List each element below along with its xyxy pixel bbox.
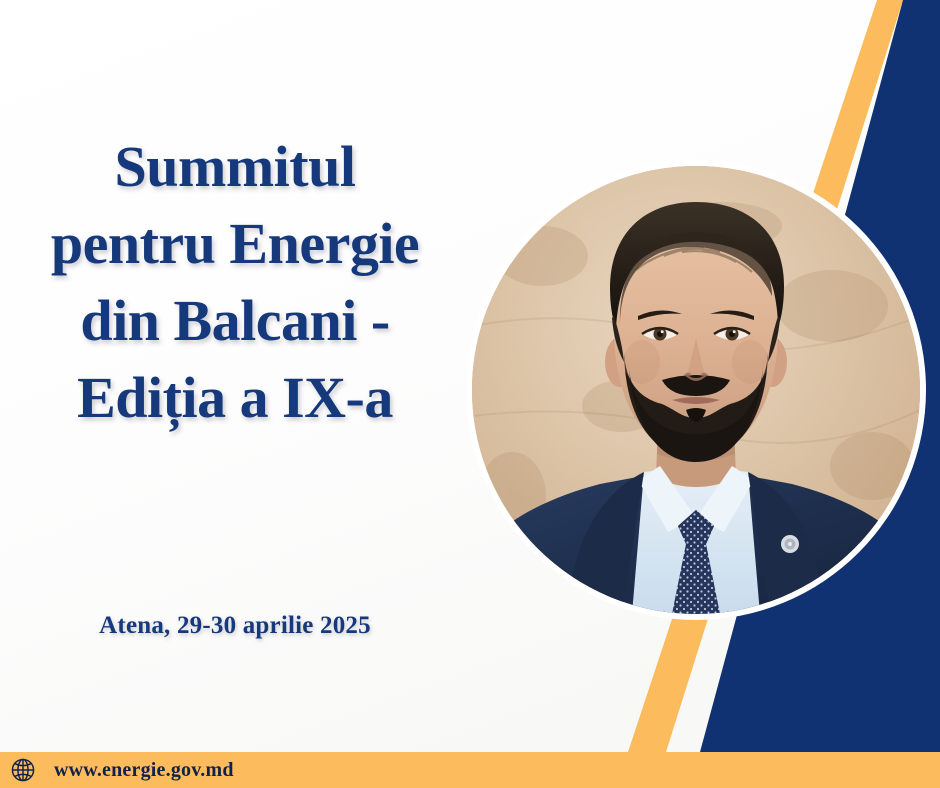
website-url[interactable]: www.energie.gov.md [54, 759, 234, 782]
poster-canvas: Summitul pentru Energie din Balcani - Ed… [0, 0, 940, 788]
globe-icon [10, 757, 36, 783]
footer-bar: www.energie.gov.md [0, 752, 940, 788]
headline-line-3: din Balcani - [0, 282, 470, 359]
page-title: Summitul pentru Energie din Balcani - Ed… [0, 128, 470, 437]
avatar [472, 166, 920, 614]
headline-line-2: pentru Energie [0, 205, 470, 282]
event-date-location: Atena, 29-30 aprilie 2025 [0, 612, 470, 640]
headline-line-1: Summitul [0, 128, 470, 205]
portrait-illustration [472, 166, 920, 614]
headline-line-4: Ediția a IX-a [0, 359, 470, 436]
